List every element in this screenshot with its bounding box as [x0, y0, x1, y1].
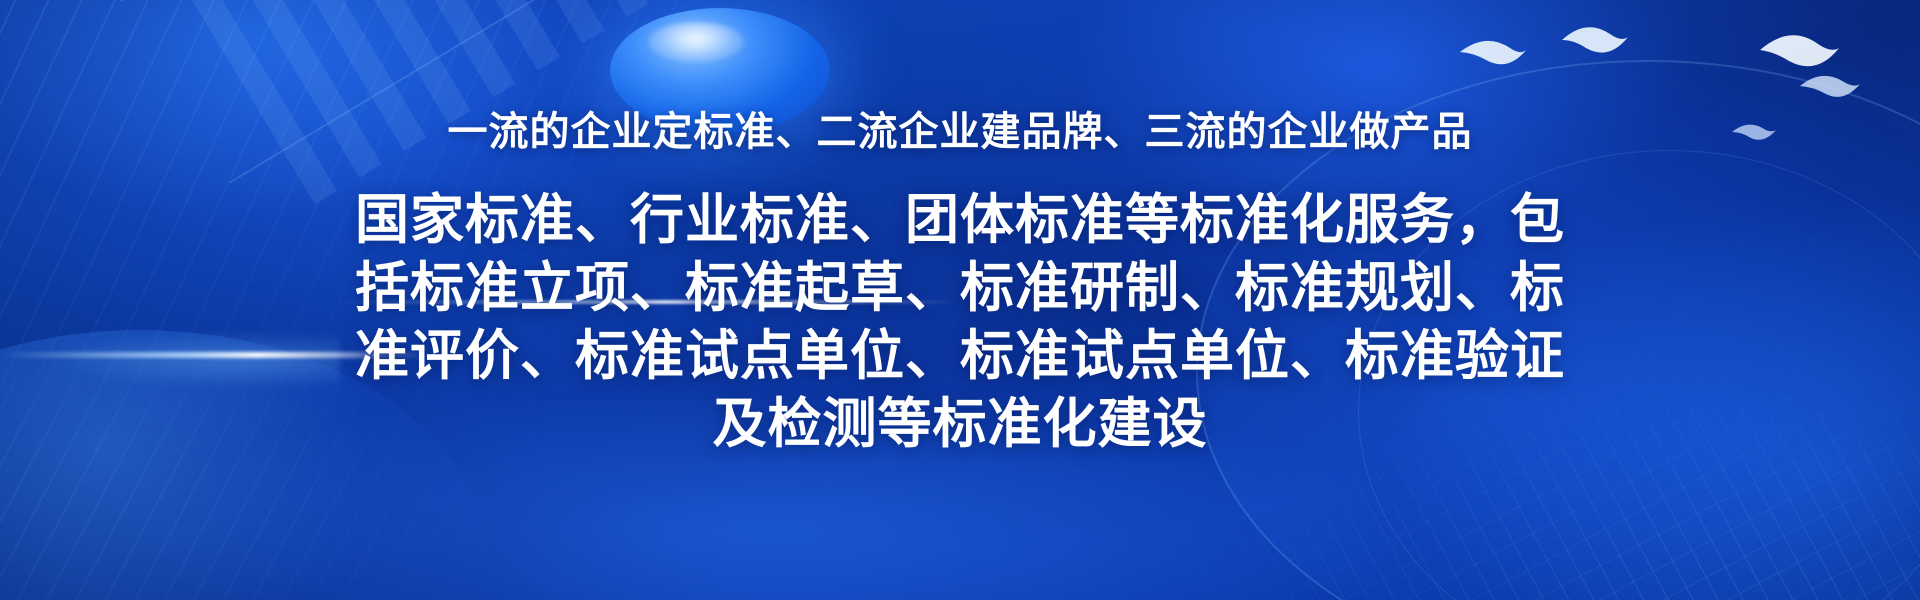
- banner-description: 国家标准、行业标准、团体标准等标准化服务，包括标准立项、标准起草、标准研制、标准…: [330, 186, 1590, 458]
- page-title: 一流的企业定标准、二流企业建品牌、三流的企业做产品: [448, 110, 1473, 154]
- banner-text-block: 一流的企业定标准、二流企业建品牌、三流的企业做产品 国家标准、行业标准、团体标准…: [0, 0, 1920, 600]
- hero-banner: 一流的企业定标准、二流企业建品牌、三流的企业做产品 国家标准、行业标准、团体标准…: [0, 0, 1920, 600]
